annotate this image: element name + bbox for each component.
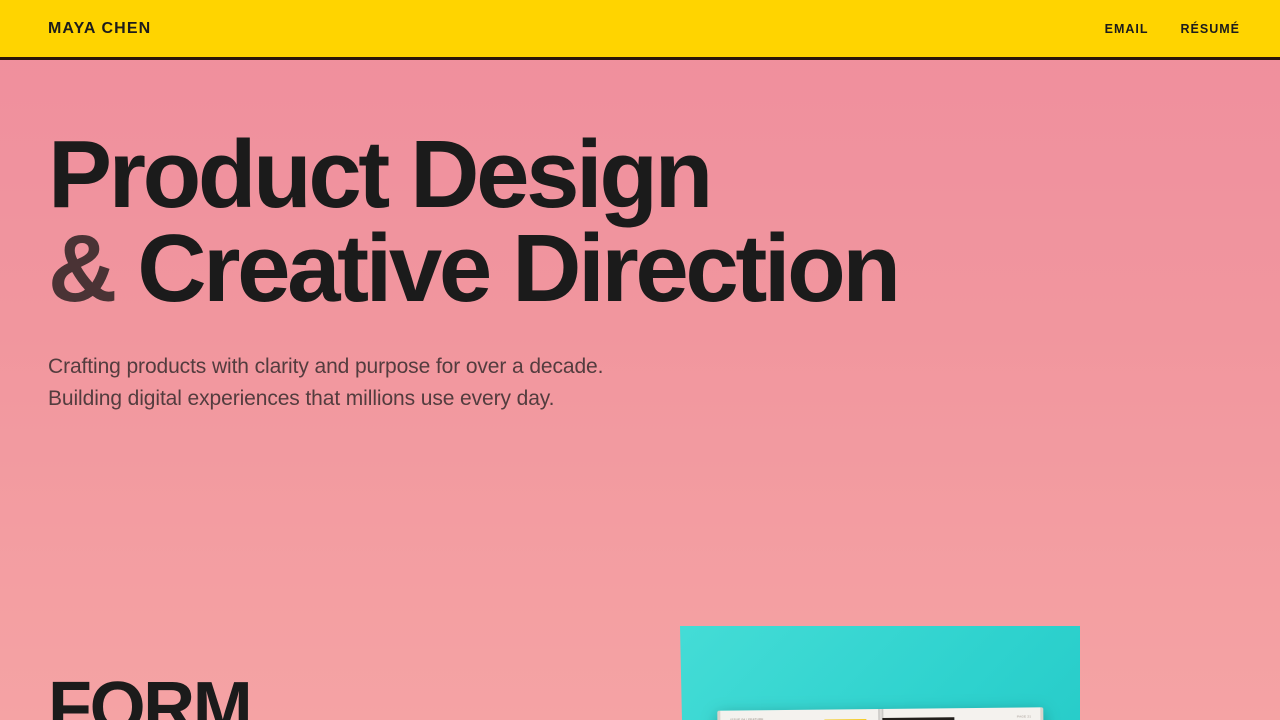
hero-subtitle: Crafting products with clarity and purpo… bbox=[48, 351, 603, 415]
hero-title-line-2: & Creative Direction bbox=[48, 222, 1148, 316]
site-header: MAYA CHEN EMAIL RÉSUMÉ bbox=[0, 0, 1280, 60]
hero-subtitle-line-2: Building digital experiences that millio… bbox=[48, 383, 603, 415]
hero-subtitle-line-1: Crafting products with clarity and purpo… bbox=[48, 351, 603, 383]
teal-backdrop bbox=[680, 626, 1080, 720]
hero-ampersand: & bbox=[48, 215, 114, 322]
open-magazine: ISSUE 04 / FEATURE The ZIN EDITOR'S NOTE bbox=[717, 707, 1044, 720]
hero-section: Product Design & Creative Direction Craf… bbox=[0, 60, 1280, 720]
magazine-left-page: ISSUE 04 / FEATURE The ZIN EDITOR'S NOTE bbox=[717, 709, 881, 720]
hero-title-line-2-text: Creative Direction bbox=[114, 215, 898, 322]
magazine-folio: PAGE 21 bbox=[1017, 714, 1031, 718]
hero-title-line-1: Product Design bbox=[48, 128, 1148, 222]
magazine-photo: ISSUE 04 / FEATURE The ZIN EDITOR'S NOTE bbox=[680, 626, 1080, 720]
section-heading-form: FORM bbox=[48, 672, 250, 720]
brand-logo[interactable]: MAYA CHEN bbox=[48, 20, 151, 38]
nav-link-email[interactable]: EMAIL bbox=[1105, 22, 1149, 36]
main-navigation: EMAIL RÉSUMÉ bbox=[1105, 22, 1240, 36]
nav-link-resume[interactable]: RÉSUMÉ bbox=[1181, 22, 1240, 36]
page-title: Product Design & Creative Direction bbox=[48, 128, 1148, 316]
magazine-right-page: PAGE 21 Studio Notes bbox=[880, 707, 1044, 720]
